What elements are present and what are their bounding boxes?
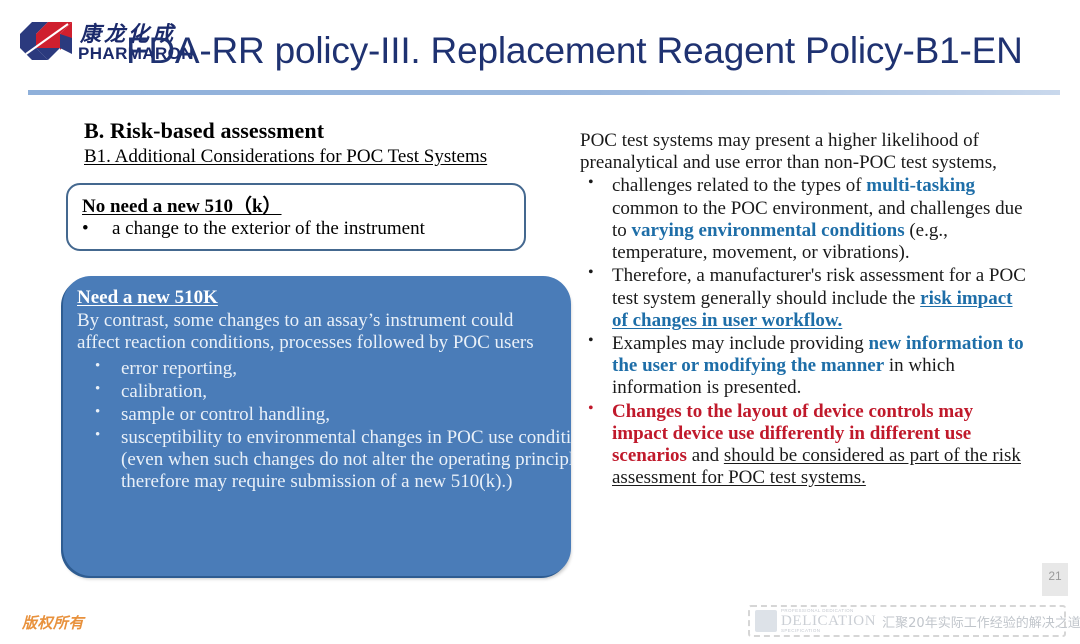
bullet1-accent1: multi-tasking	[866, 175, 975, 196]
left-column: B. Risk-based assessment B1. Additional …	[62, 118, 582, 174]
need-new-510k-box: Need a new 510K By contrast, some change…	[63, 276, 571, 576]
no-need-510k-bullet: •a change to the exterior of the instrum…	[82, 218, 425, 240]
slide-canvas: 康龙化成 PHARMARON FDA-RR policy-III. Replac…	[0, 0, 1080, 644]
copyright-label: 版权所有	[22, 612, 84, 633]
bullet1-accent2: varying environmental conditions	[632, 220, 905, 241]
right-intro-paragraph: POC test systems may present a higher li…	[580, 130, 1028, 174]
section-heading-b: B. Risk-based assessment	[84, 118, 582, 144]
need-new-510k-list: error reporting, calibration, sample or …	[77, 358, 561, 493]
pharmaron-logo-icon	[18, 20, 74, 62]
right-bullet-list: challenges related to the types of multi…	[580, 175, 1028, 489]
no-need-510k-title: No need a new 510（k）	[82, 191, 282, 218]
page-number: 21	[1042, 569, 1068, 583]
list-item: Changes to the layout of device controls…	[580, 401, 1028, 490]
need-bullet-text: sample or control handling,	[121, 404, 330, 425]
list-item: Examples may include providing new infor…	[580, 333, 1028, 400]
bullet4-part1: and	[687, 445, 724, 466]
bullet-dot-icon: •	[82, 218, 112, 240]
watermark-text-stack: PROFESSIONAL DEDICATION DELICATION SPECI…	[781, 609, 876, 633]
page-title: FDA-RR policy-III. Replacement Reagent P…	[126, 30, 1076, 72]
need-bullet-text: error reporting,	[121, 358, 237, 379]
need-bullet-text: susceptibility to environmental changes …	[121, 427, 571, 493]
need-paragraph-line-2: affect reaction conditions, processes fo…	[77, 332, 561, 354]
no-need-510k-box: No need a new 510（k） •a change to the ex…	[66, 183, 526, 251]
need-new-510k-title: Need a new 510K	[77, 287, 218, 309]
watermark-badge-icon	[755, 610, 777, 632]
section-heading-b1: B1. Additional Considerations for POC Te…	[84, 146, 582, 168]
list-item: Therefore, a manufacturer's risk assessm…	[580, 265, 1028, 332]
list-item: susceptibility to environmental changes …	[77, 427, 561, 493]
need-paragraph-line-1: By contrast, some changes to an assay’s …	[77, 310, 561, 332]
list-item: calibration,	[77, 381, 561, 403]
bullet1-part1: challenges related to the types of	[612, 175, 866, 196]
no-need-510k-bullet-text: a change to the exterior of the instrume…	[112, 218, 425, 239]
watermark: PROFESSIONAL DEDICATION DELICATION SPECI…	[748, 605, 1066, 637]
bullet3-part1: Examples may include providing	[612, 333, 868, 354]
watermark-bottom-text: SPECIFICATION	[781, 629, 876, 634]
list-item: challenges related to the types of multi…	[580, 175, 1028, 264]
watermark-main-text: DELICATION	[781, 614, 876, 629]
watermark-chinese-text: 汇聚20年实际工作经验的解决之道	[882, 612, 1080, 631]
need-bullet-text: calibration,	[121, 381, 207, 402]
right-column: POC test systems may present a higher li…	[580, 130, 1028, 491]
list-item: sample or control handling,	[77, 404, 561, 426]
title-divider	[28, 90, 1060, 95]
page-number-box: 21	[1042, 563, 1068, 596]
list-item: error reporting,	[77, 358, 561, 380]
